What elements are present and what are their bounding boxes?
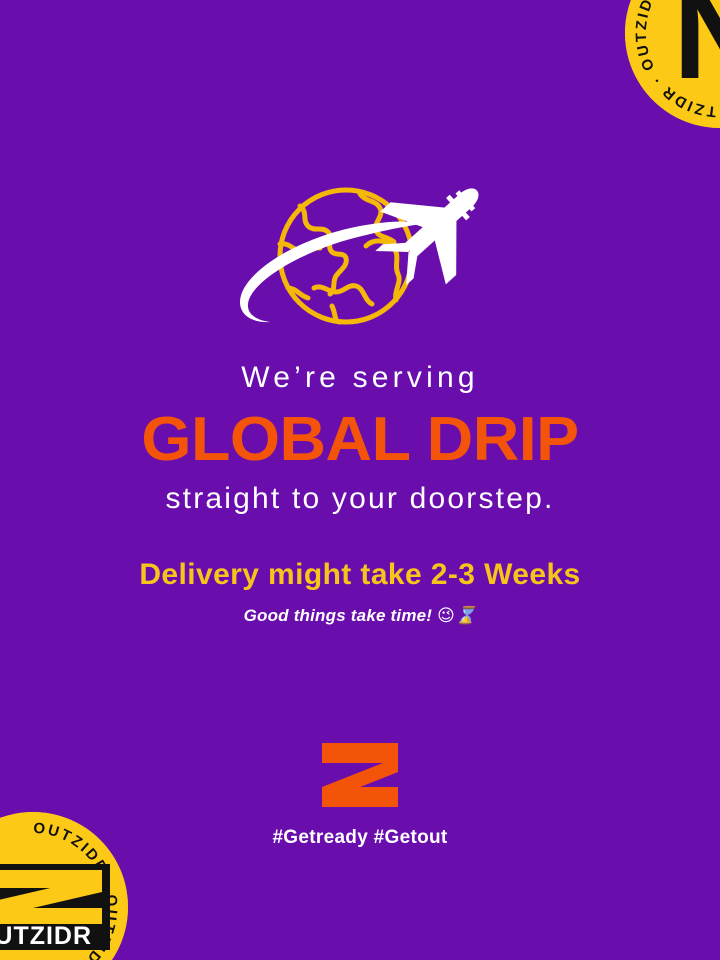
eyebrow-text: We’re serving [0,362,720,394]
brand-badge-bottom-left: OUTZIDR · OUTZIDR · OUTZIDR · OUTZIDR · … [0,812,128,960]
headline-block: We’re serving GLOBAL DRIP straight to yo… [0,362,720,626]
badge-center-wordmark-bottom-left: OUTZIDR [0,922,92,950]
subtitle-text: straight to your doorstep. [0,483,720,515]
poster-canvas: We’re serving GLOBAL DRIP straight to yo… [0,0,720,960]
page-title: GLOBAL DRIP [0,408,720,471]
badge-center-mark-bottom-left: OUTZIDR [0,864,110,950]
globe-plane-artwork [236,176,486,346]
reassurance-text: Good things take time! 😉⌛ [0,606,720,626]
badge-center-letter-top-right: N [673,0,720,106]
brand-badge-top-right: OUTZIDR · OUTZIDR · OUTZIDR · OUTZIDR · … [625,0,720,128]
brand-z-logo-icon [320,742,400,808]
delivery-notice: Delivery might take 2-3 Weeks [0,558,720,592]
